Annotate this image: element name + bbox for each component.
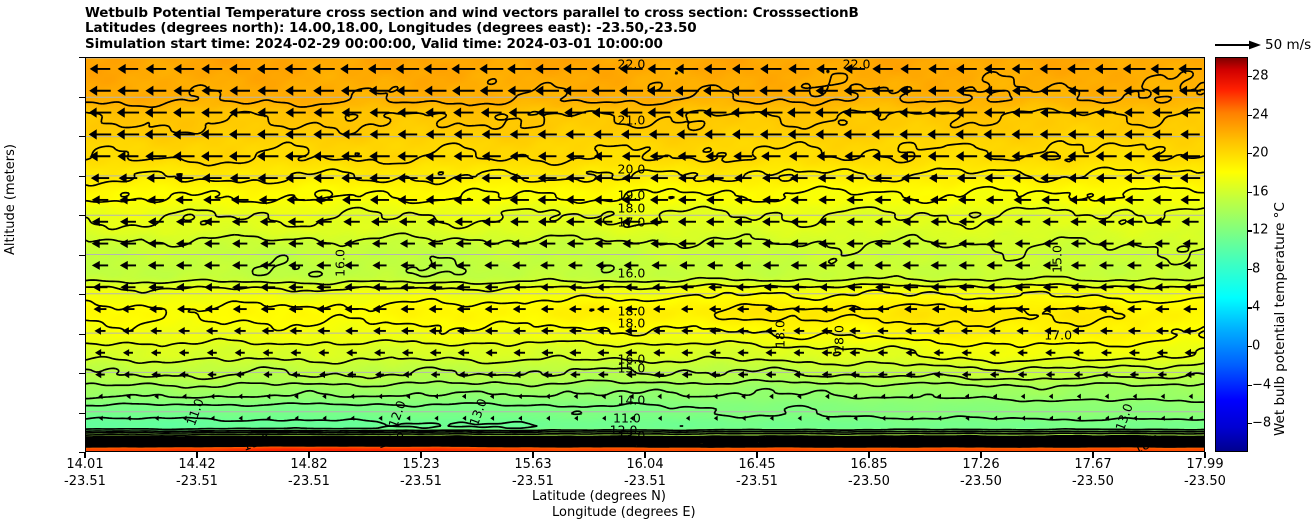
- wind-vector-arrow-icon: [878, 349, 888, 356]
- wind-vector-arrow-icon: [657, 394, 661, 400]
- x-axis-tick-mark: [1204, 452, 1205, 458]
- wind-vector-dot: [770, 439, 772, 441]
- wind-vector-arrow-icon: [257, 151, 278, 161]
- wind-vector-arrow-icon: [713, 394, 717, 400]
- wind-vector-arrow-icon: [591, 64, 615, 74]
- wind-vector-arrow-icon: [1180, 108, 1200, 118]
- wind-vector-arrow-icon: [989, 349, 999, 356]
- wind-vector-arrow-icon: [1022, 438, 1026, 443]
- wind-vector-arrow-icon: [737, 349, 748, 357]
- wind-vector-arrow-icon: [120, 195, 137, 204]
- wind-vector-arrow-icon: [881, 394, 885, 400]
- wind-vector-arrow-icon: [351, 438, 355, 443]
- wind-vector-arrow-icon: [927, 129, 949, 139]
- wind-vector-arrow-icon: [934, 371, 943, 378]
- wind-vector-arrow-icon: [263, 371, 272, 378]
- wind-vector-arrow-icon: [1152, 129, 1172, 139]
- wind-vector-arrow-icon: [709, 327, 720, 335]
- wind-vector-arrow-icon: [92, 195, 109, 204]
- wind-vector-arrow-icon: [232, 261, 247, 270]
- x-axis-tick-label: 17.26-23.50: [960, 457, 1002, 490]
- wind-vector-arrow-icon: [984, 107, 1005, 117]
- wind-vector-arrow-icon: [315, 217, 331, 226]
- wind-vector-arrow-icon: [319, 371, 328, 378]
- wind-vector-arrow-icon: [486, 349, 498, 357]
- wind-vector-arrow-icon: [732, 129, 754, 139]
- wind-vector-arrow-icon: [372, 283, 386, 291]
- wind-vector-arrow-icon: [1105, 416, 1109, 421]
- wind-vector-arrow-icon: [1127, 283, 1141, 292]
- wind-vector-arrow-icon: [564, 107, 586, 117]
- colorbar-tick-label: 16: [1252, 184, 1269, 199]
- wind-vector-arrow-icon: [518, 394, 522, 400]
- wind-vector-arrow-icon: [435, 438, 439, 443]
- wind-vector-arrow-icon: [1077, 416, 1081, 421]
- x-axis-latitude-value: 14.42: [176, 457, 218, 474]
- wind-vector-arrow-icon: [89, 86, 111, 96]
- wind-vector-arrow-icon: [510, 217, 528, 226]
- wind-vector-arrow-icon: [708, 283, 722, 291]
- wind-vector-arrow-icon: [597, 327, 609, 335]
- wind-vector-arrow-icon: [313, 129, 333, 139]
- x-axis-tick-mark: [756, 452, 757, 458]
- wind-vector-arrow-icon: [175, 195, 192, 204]
- wind-vector-arrow-icon: [341, 173, 362, 183]
- wind-vector-arrow-icon: [987, 261, 1003, 270]
- wind-vector-arrow-icon: [874, 261, 890, 270]
- wind-vector-arrow-icon: [457, 283, 470, 291]
- wind-vector-arrow-icon: [1049, 416, 1053, 421]
- cross-section-plot[interactable]: 22.022.021.020.019.018.017.016.016.015.0…: [85, 57, 1205, 452]
- wind-vector-arrow-icon: [182, 394, 186, 400]
- wind-vector-arrow-icon: [986, 217, 1002, 226]
- wind-vector-arrow-icon: [230, 173, 250, 183]
- wind-vector-arrow-icon: [1155, 261, 1169, 269]
- wind-vector-arrow-icon: [649, 129, 669, 139]
- wind-vector-arrow-icon: [148, 239, 164, 248]
- wind-vector-arrow-icon: [399, 217, 416, 226]
- wind-vector-arrow-icon: [1161, 394, 1165, 400]
- wind-vector-arrow-icon: [759, 86, 782, 96]
- wind-vector-arrow-icon: [709, 349, 720, 357]
- wind-vector-arrow-icon: [343, 217, 360, 226]
- wind-vector-arrow-icon: [759, 107, 782, 117]
- x-axis-longitude-value: -23.50: [960, 474, 1002, 491]
- wind-vector-arrow-icon: [705, 151, 724, 161]
- wind-vector-arrow-icon: [878, 371, 888, 378]
- x-axis-longitude-value: -23.51: [736, 474, 778, 491]
- wind-vector-arrow-icon: [183, 438, 187, 443]
- wind-vector-arrow-icon: [257, 108, 277, 118]
- wind-vector-arrow-icon: [1049, 394, 1053, 400]
- wind-vector-arrow-icon: [260, 217, 276, 226]
- wind-vector-arrow-icon: [1071, 305, 1085, 313]
- wind-vector-arrow-icon: [290, 349, 300, 356]
- wind-vector-arrow-icon: [731, 86, 754, 96]
- wind-vector-arrow-icon: [89, 107, 112, 117]
- wind-vector-arrow-icon: [313, 151, 334, 161]
- wind-vector-arrow-icon: [1099, 305, 1113, 313]
- wind-vector-arrow-icon: [344, 305, 358, 313]
- wind-vector-arrow-icon: [211, 438, 215, 443]
- wind-vector-arrow-icon: [850, 371, 860, 378]
- wind-vector-arrow-icon: [344, 239, 359, 248]
- wind-vector-arrow-icon: [98, 394, 102, 400]
- colorbar-tick-label: −4: [1252, 377, 1271, 392]
- wind-vector-arrow-icon: [425, 108, 445, 118]
- wind-vector-arrow-icon: [761, 151, 780, 161]
- colorbar-tick-label: 4: [1252, 300, 1260, 315]
- wind-vector-arrow-icon: [681, 349, 692, 357]
- wind-vector-arrow-icon: [511, 239, 527, 248]
- wind-vector-arrow-icon: [259, 195, 277, 204]
- wind-vector-arrow-icon: [872, 86, 894, 96]
- wind-vector-arrow-icon: [146, 64, 167, 74]
- wind-vector-arrow-icon: [675, 86, 699, 96]
- wind-vector-arrow-icon: [117, 107, 139, 117]
- wind-vector-arrow-icon: [594, 195, 613, 205]
- wind-vector-arrow-icon: [231, 195, 249, 204]
- wind-vector-arrow-icon: [95, 371, 105, 378]
- wind-vector-arrow-icon: [120, 217, 136, 226]
- wind-vector-arrow-icon: [295, 438, 299, 443]
- wind-vector-arrow-icon: [793, 349, 804, 357]
- wind-vector-arrow-icon: [986, 195, 1003, 204]
- colorbar-tick-label: 20: [1252, 146, 1269, 161]
- wind-vector-arrow-icon: [456, 261, 470, 269]
- wind-vector-arrow-icon: [1125, 195, 1144, 205]
- wind-vector-arrow-icon: [737, 327, 748, 335]
- wind-vector-arrow-icon: [535, 64, 559, 74]
- wind-vector-arrow-icon: [1044, 327, 1056, 335]
- colorbar-tick-mark: [1247, 153, 1252, 154]
- wind-vector-arrow-icon: [323, 438, 327, 443]
- wind-vector-arrow-icon: [1045, 349, 1055, 356]
- x-axis-tick-label: 15.63-23.51: [512, 457, 554, 490]
- wind-vector-arrow-icon: [930, 195, 947, 204]
- colorbar-tick-mark: [1247, 230, 1252, 231]
- wind-vector-arrow-icon: [316, 283, 331, 292]
- wind-vector-arrow-icon: [1123, 64, 1146, 74]
- wind-vector-arrow-icon: [1068, 151, 1089, 161]
- wind-vector-arrow-icon: [1154, 217, 1171, 226]
- wind-vector-arrow-icon: [961, 349, 971, 356]
- wind-vector-arrow-icon: [625, 305, 637, 313]
- wind-vector-arrow-icon: [762, 239, 779, 248]
- wind-vector-arrow-icon: [1102, 371, 1111, 378]
- wind-vector-arrow-icon: [965, 416, 969, 421]
- wind-vector-arrow-icon: [762, 217, 779, 226]
- wind-vector-arrow-icon: [962, 371, 971, 378]
- wind-vector-arrow-icon: [289, 327, 301, 335]
- wind-vector-arrow-icon: [427, 217, 444, 226]
- wind-vector-arrow-icon: [322, 394, 326, 400]
- wind-vector-arrow-icon: [234, 327, 246, 335]
- wind-vector-arrow-icon: [397, 86, 419, 96]
- wind-vector-arrow-icon: [741, 394, 745, 400]
- wind-vector-arrow-icon: [400, 239, 415, 248]
- wind-vector-arrow-icon: [183, 416, 187, 421]
- wind-vector-arrow-icon: [569, 327, 581, 335]
- wind-vector-arrow-icon: [94, 305, 107, 313]
- wind-vector-arrow-icon: [431, 371, 440, 378]
- wind-vector-arrow-icon: [483, 239, 499, 248]
- wind-vector-arrow-icon: [541, 305, 554, 313]
- wind-vector-arrow-icon: [1133, 416, 1137, 421]
- wind-vector-arrow-icon: [956, 64, 977, 74]
- wind-vector-arrow-icon: [957, 173, 976, 183]
- wind-vector-arrow-icon: [90, 64, 111, 74]
- wind-vector-arrow-icon: [1096, 173, 1116, 183]
- x-axis-tick-label: 17.67-23.50: [1072, 457, 1114, 490]
- wind-vector-arrow-icon: [207, 349, 217, 356]
- wind-vector-arrow-icon: [288, 239, 303, 248]
- wind-vector-arrow-icon: [960, 305, 974, 313]
- wind-vector-arrow-icon: [401, 327, 414, 335]
- wind-vector-arrow-icon: [570, 371, 580, 378]
- wind-vector-arrow-icon: [451, 64, 475, 74]
- wind-vector-arrow-icon: [732, 64, 754, 74]
- wind-vector-arrow-icon: [176, 261, 192, 270]
- wind-vector-arrow-icon: [257, 86, 278, 96]
- wind-vector-arrow-icon: [844, 86, 866, 96]
- wind-vector-arrow-icon: [1043, 283, 1058, 292]
- title-line-3: Simulation start time: 2024-02-29 00:00:…: [85, 37, 1205, 52]
- wind-vector-arrow-icon: [239, 438, 243, 443]
- wind-vector-arrow-icon: [490, 394, 494, 400]
- wind-vector-arrow-icon: [846, 261, 862, 270]
- wind-vector-arrow-icon: [650, 239, 667, 248]
- wind-vector-arrow-icon: [850, 349, 860, 356]
- wind-vector-arrow-icon: [1012, 86, 1032, 96]
- wind-vector-arrow-icon: [989, 327, 1001, 335]
- wind-vector-arrow-icon: [540, 261, 554, 269]
- wind-vector-arrow-icon: [145, 86, 166, 96]
- title-line-1: Wetbulb Potential Temperature cross sect…: [85, 6, 1205, 21]
- wind-vector-arrow-icon: [202, 173, 222, 183]
- wind-vector-arrow-icon: [232, 217, 248, 226]
- wind-vector-arrow-icon: [680, 283, 693, 291]
- wind-vector-arrow-icon: [567, 239, 584, 248]
- wind-vector-arrow-icon: [822, 371, 832, 378]
- colorbar-tick-label: 12: [1252, 223, 1269, 238]
- wind-vector-arrow-icon: [1014, 195, 1032, 204]
- wind-vector-arrow-icon: [258, 173, 278, 183]
- wind-vector-arrow-icon: [1068, 86, 1089, 96]
- wind-vector-arrow-icon: [145, 151, 166, 161]
- y-axis-tick-mark: [79, 373, 85, 374]
- wind-vector-arrow-icon: [815, 107, 838, 117]
- wind-vector-arrow-icon: [535, 86, 559, 96]
- wind-vector-arrow-icon: [597, 349, 609, 357]
- wind-vector-arrow-icon: [598, 371, 608, 378]
- wind-vector-arrow-icon: [94, 327, 105, 335]
- wind-vector-arrow-icon: [257, 64, 279, 74]
- wind-vector-arrow-icon: [233, 305, 247, 313]
- wind-vector-arrow-icon: [871, 107, 894, 117]
- wind-vectors: [86, 58, 1204, 451]
- x-axis-longitude-value: -23.51: [64, 474, 106, 491]
- wind-vector-arrow-icon: [229, 86, 249, 96]
- wind-vector-arrow-icon: [1181, 217, 1198, 226]
- wind-vector-arrow-icon: [1189, 438, 1193, 443]
- wind-vector-arrow-icon: [120, 261, 136, 270]
- wind-vector-arrow-icon: [262, 327, 274, 335]
- wind-vector-arrow-icon: [993, 416, 997, 421]
- colorbar-tick-label: 0: [1252, 339, 1260, 354]
- wind-vector-arrow-icon: [508, 86, 531, 96]
- wind-vector-arrow-icon: [127, 438, 131, 443]
- wind-vector-arrow-icon: [154, 394, 158, 400]
- wind-vector-arrow-icon: [201, 129, 223, 139]
- wind-vector-arrow-icon: [1040, 173, 1060, 183]
- wind-vector-arrow-icon: [490, 416, 494, 421]
- wind-vector-arrow-icon: [1151, 86, 1172, 96]
- wind-vector-arrow-icon: [955, 129, 977, 139]
- wind-vector-arrow-icon: [370, 195, 389, 205]
- wind-vector-arrow-icon: [737, 305, 749, 313]
- wind-vector-arrow-icon: [89, 129, 111, 139]
- wind-vector-arrow-icon: [791, 261, 807, 270]
- wind-vector-arrow-icon: [462, 394, 466, 400]
- wind-vector-arrow-icon: [146, 173, 165, 183]
- wind-vector-arrow-icon: [229, 64, 250, 74]
- wind-vector-arrow-icon: [514, 371, 524, 378]
- wind-vector-arrow-icon: [179, 371, 188, 378]
- wind-vector-arrow-icon: [313, 173, 333, 183]
- x-axis-tick-mark: [196, 452, 197, 458]
- wind-vector-arrow-icon: [846, 217, 862, 226]
- wind-vector-arrow-icon: [622, 217, 640, 227]
- colorbar[interactable]: [1215, 57, 1248, 452]
- wind-vector-arrow-icon: [706, 239, 723, 248]
- wind-vector-arrow-icon: [538, 130, 557, 140]
- wind-vector-arrow-icon: [790, 173, 808, 182]
- wind-vector-arrow-icon: [853, 394, 857, 400]
- wind-vector-arrow-icon: [1155, 283, 1169, 291]
- wind-vector-arrow-icon: [174, 173, 193, 183]
- colorbar-tick-mark: [1247, 307, 1252, 308]
- wind-vector-arrow-icon: [658, 416, 662, 421]
- wind-vector-arrow-icon: [1014, 217, 1030, 226]
- wind-vector-arrow-icon: [148, 283, 163, 292]
- wind-vector-arrow-icon: [650, 195, 668, 204]
- x-axis-tick-label: 14.42-23.51: [176, 457, 218, 490]
- wind-vector-arrow-icon: [120, 239, 136, 248]
- wind-vector-arrow-icon: [985, 173, 1005, 183]
- wind-vector-arrow-icon: [346, 349, 357, 357]
- wind-vector-arrow-icon: [1133, 394, 1137, 400]
- wind-vector-arrow-icon: [1039, 64, 1061, 74]
- wind-vector-arrow-icon: [318, 349, 329, 356]
- wind-vector-arrow-icon: [790, 195, 807, 204]
- wind-vector-arrow-icon: [766, 371, 776, 378]
- wind-vector-arrow-icon: [294, 394, 298, 400]
- wind-vector-arrow-icon: [1012, 108, 1033, 118]
- quiver-key: 50 m/s: [1213, 36, 1309, 56]
- wind-vector-arrow-icon: [285, 86, 306, 96]
- wind-vector-arrow-icon: [127, 416, 131, 421]
- colorbar-tick-mark: [1247, 423, 1252, 424]
- wind-vector-arrow-icon: [738, 371, 748, 378]
- wind-vector-arrow-icon: [510, 130, 529, 140]
- wind-vector-arrow-icon: [626, 371, 636, 378]
- wind-vector-arrow-icon: [322, 416, 326, 421]
- wind-vector-arrow-icon: [204, 283, 219, 292]
- wind-vector-arrow-icon: [1015, 239, 1030, 248]
- wind-vector-dot: [714, 439, 716, 441]
- wind-vector-arrow-icon: [350, 416, 354, 421]
- wind-vector-arrow-icon: [267, 438, 271, 443]
- wind-vector-arrow-icon: [428, 239, 443, 248]
- wind-vector-arrow-icon: [847, 283, 862, 292]
- wind-vector-arrow-icon: [931, 283, 946, 292]
- wind-vector-arrow-icon: [932, 305, 945, 313]
- wind-vector-arrow-icon: [621, 129, 641, 139]
- wind-vector-arrow-icon: [479, 64, 503, 74]
- wind-vector-dot: [798, 439, 800, 441]
- wind-vector-arrow-icon: [928, 86, 949, 96]
- wind-vector-arrow-icon: [762, 195, 779, 204]
- wind-vector-arrow-icon: [1012, 173, 1032, 183]
- x-axis-tick-mark: [532, 452, 533, 458]
- y-axis-tick-mark: [79, 294, 85, 295]
- wind-vector-arrow-icon: [341, 151, 362, 161]
- wind-vector-arrow-icon: [1152, 173, 1172, 183]
- wind-vector-arrow-icon: [1189, 394, 1193, 399]
- wind-vector-arrow-icon: [510, 151, 529, 161]
- wind-vector-arrow-icon: [99, 416, 103, 421]
- wind-vector-arrow-icon: [459, 371, 468, 378]
- wind-vector-arrow-icon: [424, 86, 446, 96]
- wind-vector-arrow-icon: [622, 195, 641, 205]
- wind-vector-arrow-icon: [1046, 371, 1055, 378]
- wind-vector-arrow-icon: [734, 239, 751, 248]
- wind-vector-arrow-icon: [400, 283, 414, 291]
- wind-vector-arrow-icon: [235, 349, 245, 356]
- wind-vector-arrow-icon: [513, 283, 526, 291]
- wind-vector-arrow-icon: [703, 107, 726, 117]
- wind-vector-arrow-icon: [789, 151, 809, 161]
- wind-vector-arrow-icon: [843, 107, 866, 117]
- x-axis-tick-mark: [84, 452, 85, 458]
- y-axis-tick-mark: [79, 176, 85, 177]
- wind-vector-arrow-icon: [314, 195, 333, 205]
- wind-vector-arrow-icon: [874, 195, 891, 204]
- wind-vector-arrow-icon: [375, 371, 384, 378]
- wind-vector-arrow-icon: [592, 107, 614, 117]
- wind-vector-arrow-icon: [121, 305, 134, 313]
- wind-vector-arrow-icon: [678, 217, 696, 226]
- wind-vector-arrow-icon: [816, 64, 837, 74]
- wind-vector-arrow-icon: [1183, 305, 1197, 313]
- wind-vector-arrow-icon: [1179, 86, 1201, 96]
- wind-vector-arrow-icon: [625, 327, 637, 335]
- wind-vector-arrow-icon: [1158, 371, 1167, 378]
- x-axis-tick-mark: [308, 452, 309, 458]
- wind-vector-arrow-icon: [1180, 173, 1200, 183]
- wind-vector-arrow-icon: [481, 108, 502, 118]
- wind-vector-arrow-icon: [429, 305, 443, 313]
- x-axis-tick-label: 16.85-23.50: [848, 457, 890, 490]
- wind-vector-arrow-icon: [289, 305, 303, 313]
- colorbar-tick-label: −8: [1252, 416, 1271, 431]
- wind-vector-arrow-icon: [457, 327, 470, 335]
- wind-vector-arrow-icon: [203, 195, 220, 204]
- wind-vector-arrow-icon: [703, 86, 727, 96]
- wind-vector-arrow-icon: [288, 283, 303, 292]
- wind-vector-arrow-icon: [92, 239, 109, 248]
